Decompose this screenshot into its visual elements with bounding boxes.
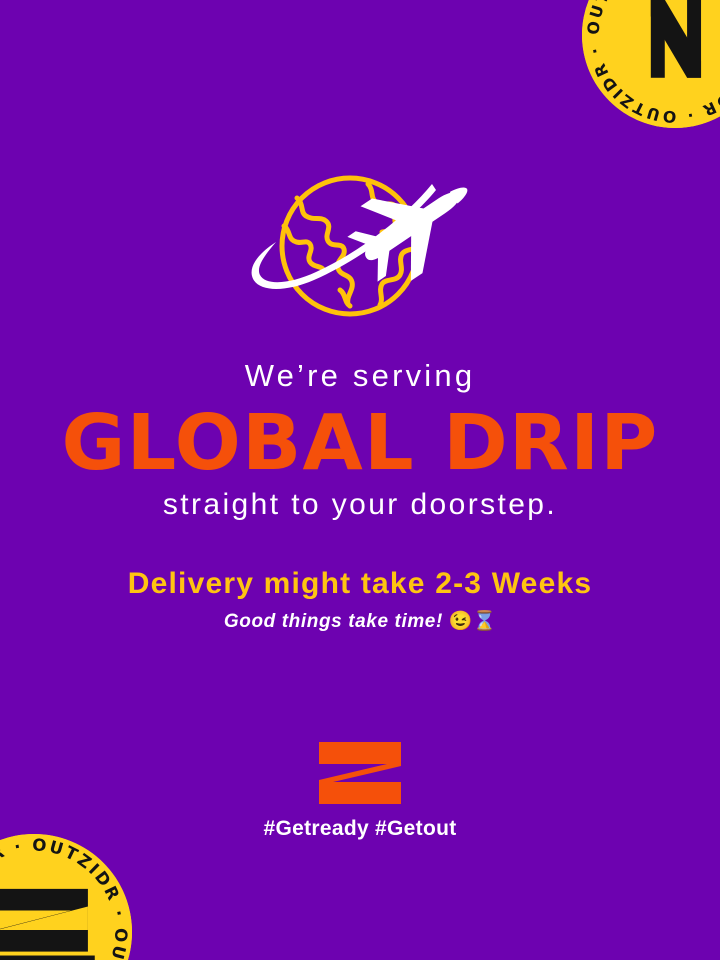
tagline-text: #Getready #Getout [264,818,457,839]
reassurance-note: Good things take time! 😉⌛ [0,612,720,632]
copy-block: We’re serving GLOBAL DRIP straight to yo… [0,360,720,631]
delivery-estimate-text: Delivery might take 2-3 Weeks [0,568,720,600]
globe-icon [282,178,424,314]
promo-poster: OUTZIDR · OUTZIDR · OUTZIDR · OUTZIDR · … [0,0,720,960]
kicker-text: We’re serving [0,360,720,393]
wink-hourglass-emoji: 😉⌛ [449,611,496,632]
headline-text: GLOBAL DRIP [0,405,720,482]
subline-text: straight to your doorstep. [0,489,720,521]
globe-plane-illustration [0,168,720,332]
note-text: Good things take time! [224,611,443,632]
footer-block: #Getready #Getout [0,742,720,839]
outzidr-stamp-bottom-left: OUTZIDR · OUTZIDR · OUTZIDR · OUTZIDR · … [0,834,132,960]
outzidr-z-logo [319,742,401,804]
outzidr-stamp-top-right: OUTZIDR · OUTZIDR · OUTZIDR · OUTZIDR · [582,0,720,128]
